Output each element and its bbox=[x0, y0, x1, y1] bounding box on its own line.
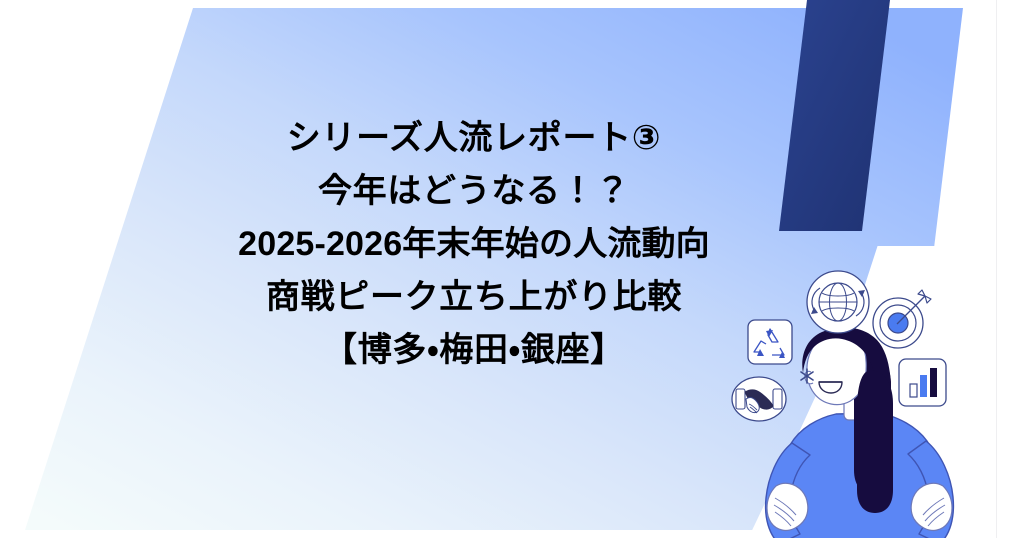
right-edge-rule bbox=[996, 0, 997, 538]
handshake-icon bbox=[732, 377, 786, 421]
blog-header-banner: シリーズ人流レポート③ 今年はどうなる！？ 2025-2026年末年始の人流動向… bbox=[0, 0, 1024, 538]
globe-icon bbox=[807, 271, 869, 333]
banner-background bbox=[0, 0, 1024, 538]
recycle-icon bbox=[748, 320, 792, 364]
ponytail bbox=[857, 370, 893, 513]
bar-chart-icon bbox=[899, 359, 946, 406]
